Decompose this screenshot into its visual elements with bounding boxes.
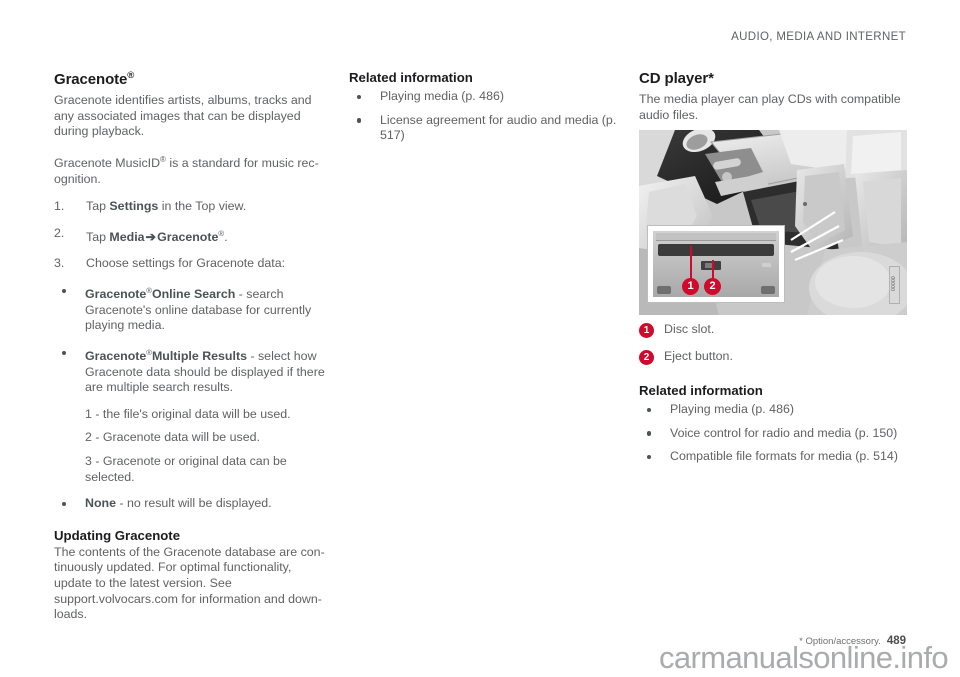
right-column-lower: 1Disc slot. 2Eject button. Related infor… bbox=[639, 322, 911, 473]
instruction-steps: 1.Tap Settings in the Top view. 2.Tap Me… bbox=[54, 199, 326, 272]
step-text: Choose settings for Gracenote data: bbox=[86, 256, 285, 270]
faceplate-right-clip bbox=[761, 286, 775, 294]
page-header-title: AUDIO, MEDIA AND INTERNET bbox=[731, 31, 906, 43]
leader-line-1 bbox=[690, 246, 692, 280]
related-link-label[interactable]: License agreement for audio and media (p… bbox=[380, 113, 616, 143]
gracenote-options-list-none: None - no result will be displayed. bbox=[54, 496, 326, 512]
related-link-label[interactable]: Playing media (p. 486) bbox=[670, 402, 794, 416]
list-item-multiple-results: Gracenote®Multiple Results - select how … bbox=[54, 345, 326, 396]
related-information-list: Playing media (p. 486) Voice control for… bbox=[639, 402, 911, 465]
menu-label-gracenote[interactable]: Gracenote bbox=[157, 230, 218, 244]
option-label-none[interactable]: None bbox=[85, 496, 116, 510]
subline-option-3: 3 - Gracenote or original data can be se… bbox=[54, 454, 326, 485]
step-item-1: 1.Tap Settings in the Top view. bbox=[54, 199, 326, 215]
option-label-multiple-results[interactable]: Multiple Results bbox=[152, 349, 247, 363]
related-link-label[interactable]: Voice control for radio and media (p. 15… bbox=[670, 426, 897, 440]
step-item-3: 3.Choose settings for Gracenote data: bbox=[54, 256, 326, 272]
intro-paragraph: Gracenote identifies artists, albums, tr… bbox=[54, 93, 326, 140]
section-title-updating-gracenote: Updating Gracenote bbox=[54, 528, 326, 543]
step-text-post: in the Top view. bbox=[158, 199, 246, 213]
step-number: 3. bbox=[54, 256, 76, 272]
disc-slot[interactable] bbox=[658, 244, 774, 256]
faceplate-indicator bbox=[762, 263, 771, 267]
step-number: 1. bbox=[54, 199, 76, 215]
list-item-related-link[interactable]: License agreement for audio and media (p… bbox=[349, 113, 621, 144]
left-column: Gracenote® Gracenote identifies artists,… bbox=[54, 70, 326, 635]
option-label-online-search[interactable]: Online Search bbox=[152, 287, 235, 301]
callout-eject-button: 2Eject button. bbox=[639, 349, 911, 365]
option-description: - no result will be displayed. bbox=[116, 496, 272, 510]
related-information-list: Playing media (p. 486) License agreement… bbox=[349, 89, 621, 144]
bullet-icon bbox=[357, 118, 361, 122]
step-text-pre: Tap bbox=[86, 199, 109, 213]
related-information-title: Related information bbox=[639, 383, 911, 398]
musicid-text-a: Gracenote MusicID bbox=[54, 156, 160, 170]
subline-option-2: 2 - Gracenote data will be used. bbox=[54, 430, 326, 446]
callout-text: Eject button. bbox=[664, 349, 733, 363]
step-text-pre: Tap bbox=[86, 230, 109, 244]
gracenote-options-list: Gracenote®Online Search - search Graceno… bbox=[54, 283, 326, 396]
manual-page: AUDIO, MEDIA AND INTERNET Gracenote® Gra… bbox=[0, 0, 960, 677]
list-item-related-link[interactable]: Compatible file formats for media (p. 51… bbox=[639, 449, 911, 465]
cd-player-title: CD player* bbox=[639, 70, 911, 87]
option-label-gracenote[interactable]: Gracenote bbox=[85, 349, 146, 363]
related-information-title: Related information bbox=[349, 70, 621, 85]
cd-player-figure: 1 2 00000 bbox=[639, 130, 907, 315]
registered-mark-icon: ® bbox=[127, 70, 134, 81]
cd-player-inset: 1 2 bbox=[647, 225, 785, 303]
faceplate-left-clip bbox=[657, 286, 671, 294]
right-column: CD player* The media player can play CDs… bbox=[639, 70, 911, 123]
related-link-label[interactable]: Compatible file formats for media (p. 51… bbox=[670, 449, 898, 463]
bullet-icon bbox=[62, 351, 66, 355]
bullet-icon bbox=[647, 455, 651, 459]
callout-text: Disc slot. bbox=[664, 322, 714, 336]
figure-badge-2: 2 bbox=[704, 278, 721, 295]
list-item-online-search: Gracenote®Online Search - search Graceno… bbox=[54, 283, 326, 334]
callout-badge-2: 2 bbox=[639, 350, 654, 365]
middle-column: Related information Playing media (p. 48… bbox=[349, 70, 621, 152]
bullet-icon bbox=[62, 502, 66, 506]
eject-button-face bbox=[705, 263, 712, 268]
callout-badge-1: 1 bbox=[639, 323, 654, 338]
arrow-right-icon: ➔ bbox=[145, 230, 158, 244]
eject-button[interactable] bbox=[701, 261, 721, 270]
menu-label-media[interactable]: Media bbox=[109, 230, 144, 244]
bullet-icon bbox=[647, 431, 651, 435]
figure-id-code: 00000 bbox=[889, 266, 900, 304]
updating-gracenote-paragraph: The contents of the Gracenote database a… bbox=[54, 545, 326, 623]
page-title-text: Gracenote bbox=[54, 71, 127, 88]
list-item-none: None - no result will be displayed. bbox=[54, 496, 326, 512]
list-item-related-link[interactable]: Voice control for radio and media (p. 15… bbox=[639, 426, 911, 442]
faceplate-top-trim bbox=[656, 233, 776, 241]
callout-disc-slot: 1Disc slot. bbox=[639, 322, 911, 338]
bullet-icon bbox=[647, 408, 651, 412]
step-number: 2. bbox=[54, 226, 76, 242]
cd-player-intro: The media player can play CDs with compa… bbox=[639, 92, 911, 123]
step-item-2: 2.Tap Media➔Gracenote®. bbox=[54, 226, 326, 246]
figure-badge-1: 1 bbox=[682, 278, 699, 295]
figure-id-code-text: 00000 bbox=[890, 282, 899, 291]
related-link-label[interactable]: Playing media (p. 486) bbox=[380, 89, 504, 103]
bullet-icon bbox=[357, 95, 361, 99]
watermark: carmanualsonline.info bbox=[659, 640, 948, 676]
step-text-post: . bbox=[224, 230, 227, 244]
page-title: Gracenote® bbox=[54, 70, 326, 88]
musicid-paragraph: Gracenote MusicID® is a standard for mus… bbox=[54, 152, 326, 187]
bullet-icon bbox=[62, 289, 66, 293]
subline-option-1: 1 - the file's original data will be use… bbox=[54, 407, 326, 423]
menu-label-settings[interactable]: Settings bbox=[109, 199, 158, 213]
list-item-related-link[interactable]: Playing media (p. 486) bbox=[349, 89, 621, 105]
option-label-gracenote[interactable]: Gracenote bbox=[85, 287, 146, 301]
leader-line-2 bbox=[712, 260, 714, 280]
list-item-related-link[interactable]: Playing media (p. 486) bbox=[639, 402, 911, 418]
